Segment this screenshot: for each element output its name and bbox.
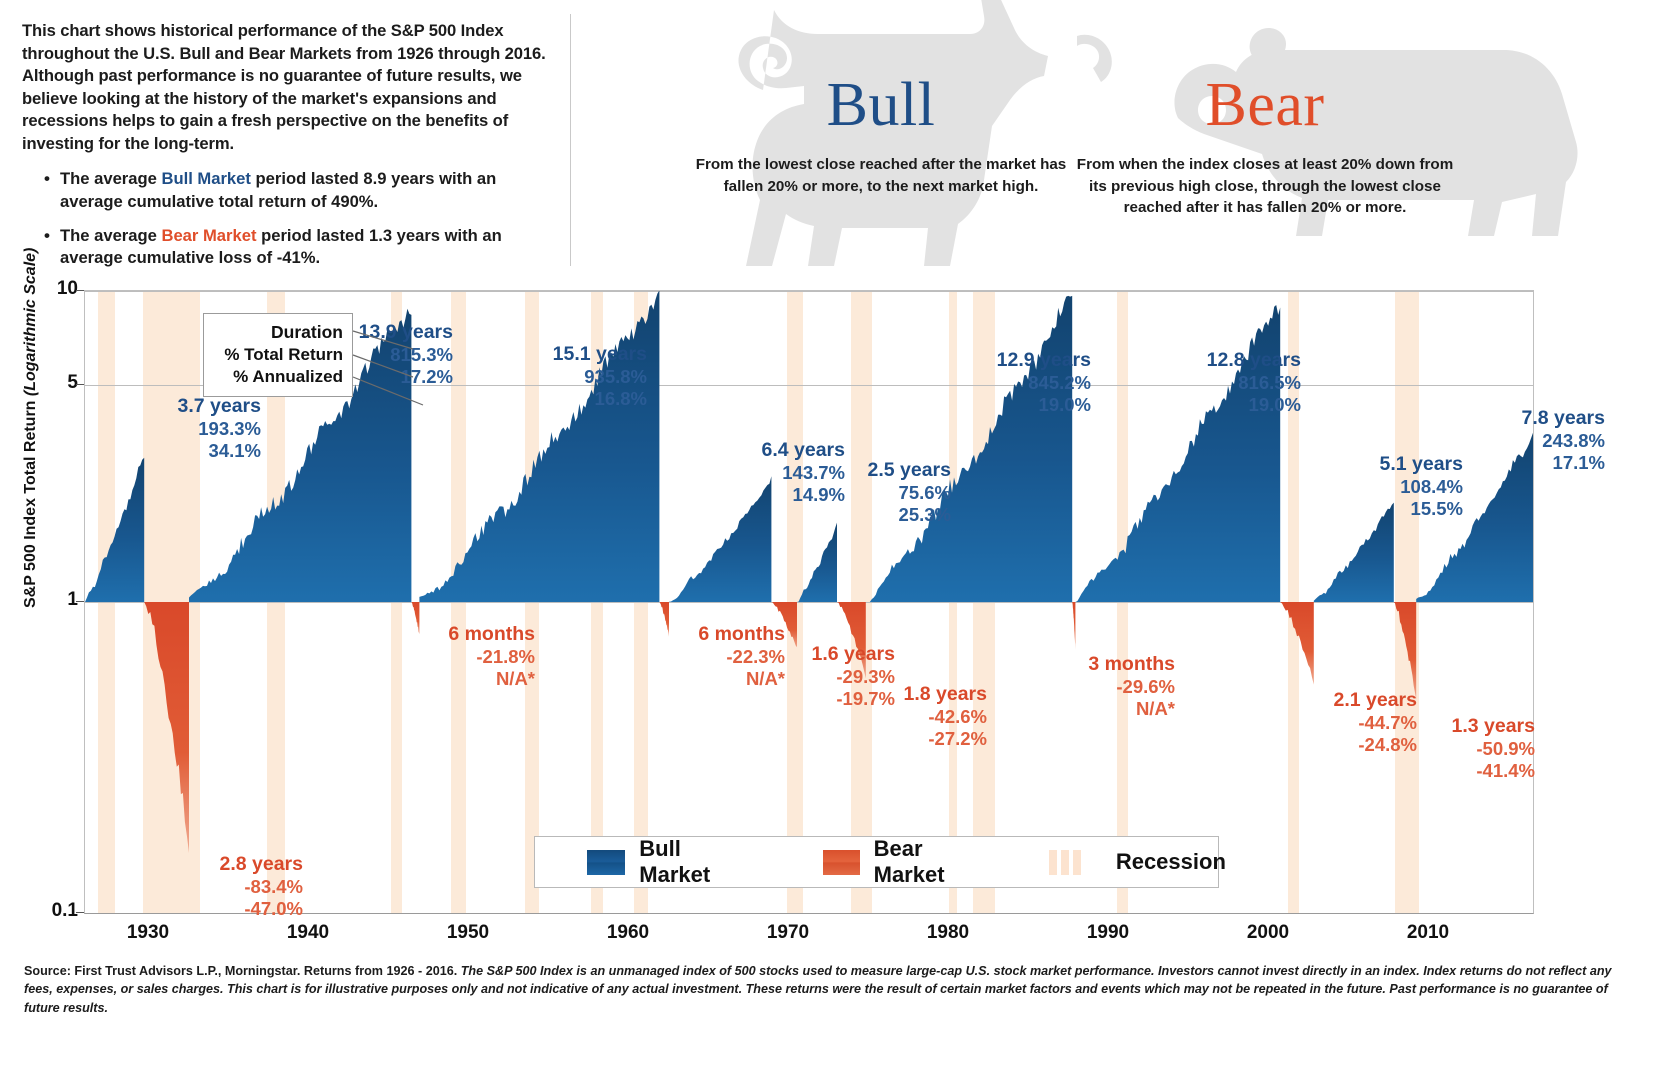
bull-market-label: 12.8 years816.5%19.0% (1207, 349, 1301, 416)
bear-market-label: 1.8 years-42.6%-27.2% (904, 683, 988, 750)
bear-market-area (1280, 602, 1314, 685)
bull-market-label-total-return: 816.5% (1207, 372, 1301, 394)
legend-label-recession: Recession (1116, 849, 1226, 875)
bear-market-label-annualized: -19.7% (812, 688, 896, 710)
bear-market-area (144, 602, 189, 853)
bear-market-area (1072, 602, 1075, 650)
legend-label-bear: Bear Market (874, 836, 961, 888)
bull-market-label-duration: 3.7 years (178, 395, 262, 418)
bear-market-label-duration: 1.3 years (1452, 715, 1536, 738)
intro-block: This chart shows historical performance … (22, 20, 552, 281)
bear-market-label-total-return: -29.3% (812, 666, 896, 688)
bull-market-area (797, 523, 837, 602)
bull-market-label-total-return: 193.3% (178, 418, 262, 440)
bear-swatch-icon (823, 850, 860, 875)
recession-swatch-icon (1049, 850, 1102, 875)
bear-market-label-duration: 1.8 years (904, 683, 988, 706)
plot-canvas: 3.7 years193.3%34.1%13.9 years815.3%17.2… (84, 290, 1534, 914)
bull-market-label: 15.1 years935.8%16.8% (553, 343, 647, 410)
y-tick-label: 1 (34, 589, 78, 611)
bull-market-label: 13.9 years815.3%17.2% (359, 321, 453, 388)
bear-market-area (659, 602, 669, 637)
definitions-block: Bull From the lowest close reached after… (580, 0, 1655, 278)
bear-market-area (411, 602, 419, 635)
bear-ear-icon (1250, 28, 1286, 62)
bull-market-label-duration: 13.9 years (359, 321, 453, 344)
y-tick-mark (76, 601, 84, 602)
bear-market-label-duration: 1.6 years (812, 643, 896, 666)
bull-market-label-annualized: 34.1% (178, 440, 262, 462)
x-tick-label: 1950 (423, 922, 513, 944)
bear-market-label-duration: 2.8 years (220, 853, 304, 876)
x-tick-label: 2010 (1383, 922, 1473, 944)
bull-market-label-total-return: 108.4% (1380, 476, 1464, 498)
chart-area: S&P 500 Index Total Return (Logarithmic … (0, 278, 1655, 958)
x-tick-label: 1990 (1063, 922, 1153, 944)
bull-market-label-total-return: 75.6% (868, 482, 952, 504)
bear-market-label: 6 months-22.3%N/A* (698, 623, 785, 690)
y-tick-mark (76, 912, 84, 913)
bull-market-label: 2.5 years75.6%25.3% (868, 459, 952, 526)
duration-key-box: Duration % Total Return % Annualized (203, 313, 353, 397)
bull-market-label: 6.4 years143.7%14.9% (762, 439, 846, 506)
bull-market-label-duration: 15.1 years (553, 343, 647, 366)
bull-market-label-duration: 5.1 years (1380, 453, 1464, 476)
bear-market-label-total-return: -22.3% (698, 646, 785, 668)
bull-market-label-total-return: 845.2% (997, 372, 1091, 394)
bear-market-label-annualized: -27.2% (904, 728, 988, 750)
bear-market-label: 3 months-29.6%N/A* (1088, 653, 1175, 720)
y-axis-title: S&P 500 Index Total Return (Logarithmic … (22, 248, 40, 608)
bear-market-label-annualized: -41.4% (1452, 760, 1536, 782)
bear-market-label-annualized: N/A* (1088, 698, 1175, 720)
bull-market-area (419, 291, 659, 602)
bullet-bear: The average Bear Market period lasted 1.… (44, 225, 552, 270)
footnote-plain: Source: First Trust Advisors L.P., Morni… (24, 964, 461, 978)
bullet-bear-keyword: Bear Market (161, 226, 256, 245)
source-footnote: Source: First Trust Advisors L.P., Morni… (24, 962, 1636, 1017)
summary-bullets: The average Bull Market period lasted 8.… (22, 168, 552, 269)
bullet-bear-pre: The average (60, 226, 161, 245)
bear-definition-panel: Bear From when the index closes at least… (1070, 74, 1460, 219)
bull-title: Bull (686, 74, 1076, 136)
bear-market-label: 1.3 years-50.9%-41.4% (1452, 715, 1536, 782)
bear-market-label-annualized: -24.8% (1334, 734, 1418, 756)
bull-market-label-duration: 6.4 years (762, 439, 846, 462)
bear-market-label: 6 months-21.8%N/A* (448, 623, 535, 690)
bear-market-label: 1.6 years-29.3%-19.7% (812, 643, 896, 710)
bear-market-label-total-return: -50.9% (1452, 738, 1536, 760)
bear-title: Bear (1070, 74, 1460, 136)
legend-item-bear: Bear Market (823, 836, 961, 888)
bull-market-label-annualized: 25.3% (868, 504, 952, 526)
x-tick-label: 1930 (103, 922, 193, 944)
bear-market-label-total-return: -44.7% (1334, 712, 1418, 734)
bull-market-label-duration: 2.5 years (868, 459, 952, 482)
bull-market-label-duration: 7.8 years (1522, 407, 1606, 430)
bull-market-label-annualized: 16.8% (553, 388, 647, 410)
bear-market-label: 2.8 years-83.4%-47.0% (220, 853, 304, 920)
chart-legend: Bull Market Bear Market Recession (534, 836, 1219, 888)
bear-market-label: 2.1 years-44.7%-24.8% (1334, 689, 1418, 756)
bear-description: From when the index closes at least 20% … (1070, 154, 1460, 219)
bear-market-area (1394, 602, 1416, 700)
bull-market-label-duration: 12.8 years (1207, 349, 1301, 372)
bull-description: From the lowest close reached after the … (686, 154, 1076, 197)
y-tick-label: 5 (34, 372, 78, 394)
bull-market-label: 5.1 years108.4%15.5% (1380, 453, 1464, 520)
bull-market-label-total-return: 143.7% (762, 462, 846, 484)
bull-swatch-icon (587, 850, 625, 875)
x-tick-label: 1980 (903, 922, 993, 944)
y-tick-label: 0.1 (34, 900, 78, 922)
bull-market-area (669, 476, 771, 602)
x-tick-label: 2000 (1223, 922, 1313, 944)
bear-market-label-duration: 6 months (698, 623, 785, 646)
bull-market-label-total-return: 935.8% (553, 366, 647, 388)
bull-market-label-annualized: 15.5% (1380, 498, 1464, 520)
bull-market-label-annualized: 19.0% (1207, 394, 1301, 416)
bull-market-label-annualized: 19.0% (997, 394, 1091, 416)
x-tick-label: 1970 (743, 922, 833, 944)
bear-market-label-total-return: -29.6% (1088, 676, 1175, 698)
duration-key-line2: % Total Return (213, 344, 343, 366)
bullet-bull-keyword: Bull Market (161, 169, 250, 188)
duration-key-line3: % Annualized (213, 366, 343, 388)
bull-market-label-annualized: 14.9% (762, 484, 846, 506)
bull-market-label-annualized: 17.1% (1522, 452, 1606, 474)
bear-market-label-annualized: N/A* (698, 668, 785, 690)
bull-market-label: 3.7 years193.3%34.1% (178, 395, 262, 462)
header-divider (570, 14, 571, 266)
bull-market-label-total-return: 243.8% (1522, 430, 1606, 452)
bear-market-label-total-return: -21.8% (448, 646, 535, 668)
bear-market-label-annualized: -47.0% (220, 898, 304, 920)
bear-market-label-duration: 3 months (1088, 653, 1175, 676)
legend-label-bull: Bull Market (639, 836, 725, 888)
legend-item-recession: Recession (1049, 849, 1226, 875)
bear-market-label-annualized: N/A* (448, 668, 535, 690)
bull-market-label-annualized: 17.2% (359, 366, 453, 388)
y-tick-mark (76, 384, 84, 385)
bear-market-label-total-return: -83.4% (220, 876, 304, 898)
bull-market-label-duration: 12.9 years (997, 349, 1091, 372)
x-tick-label: 1960 (583, 922, 673, 944)
bullet-bull-pre: The average (60, 169, 161, 188)
duration-key-line1: Duration (213, 321, 343, 344)
bullet-bull: The average Bull Market period lasted 8.… (44, 168, 552, 213)
bull-market-label-total-return: 815.3% (359, 344, 453, 366)
x-tick-label: 1940 (263, 922, 353, 944)
bull-market-label: 7.8 years243.8%17.1% (1522, 407, 1606, 474)
legend-item-bull: Bull Market (587, 836, 725, 888)
bull-market-label: 12.9 years845.2%19.0% (997, 349, 1091, 416)
bull-market-area (85, 458, 144, 602)
y-tick-mark (76, 290, 84, 291)
intro-paragraph: This chart shows historical performance … (22, 20, 552, 155)
bear-market-label-duration: 2.1 years (1334, 689, 1418, 712)
y-tick-label: 10 (34, 278, 78, 300)
bear-market-label-total-return: -42.6% (904, 706, 988, 728)
bull-market-area (866, 296, 1072, 602)
bull-definition-panel: Bull From the lowest close reached after… (686, 74, 1076, 197)
bear-market-label-duration: 6 months (448, 623, 535, 646)
